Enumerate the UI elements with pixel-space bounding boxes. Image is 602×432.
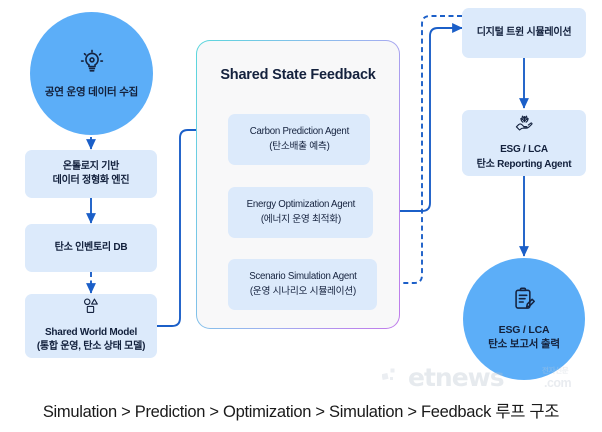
agent-line-1: Energy Optimization Agent: [247, 198, 355, 213]
clipboard-report-icon: [512, 287, 536, 319]
node-label: 공연 운영 데이터 수집: [45, 85, 138, 99]
box-line-2: (통합 운영, 탄소 상태 모델): [37, 340, 145, 355]
box-line-1: 디지털 트윈 시뮬레이션: [477, 26, 572, 41]
agent-energy-optimization[interactable]: Energy Optimization Agent (에너지 운영 최적화): [228, 187, 373, 238]
watermark-mark-icon: [382, 367, 404, 394]
agent-carbon-prediction[interactable]: Carbon Prediction Agent (탄소배출 예측): [228, 114, 370, 165]
shapes-model-icon: [81, 297, 101, 322]
agent-line-1: Scenario Simulation Agent: [249, 270, 356, 285]
box-ontology-engine[interactable]: 온톨로지 기반 데이터 정형화 엔진: [25, 150, 157, 198]
agent-scenario-simulation[interactable]: Scenario Simulation Agent (운영 시나리오 시뮬레이션…: [228, 259, 377, 310]
box-esg-lca-reporting-agent[interactable]: ESG / LCA 탄소 Reporting Agent: [462, 110, 586, 176]
box-carbon-inventory-db[interactable]: 탄소 인벤토리 DB: [25, 224, 157, 272]
box-line-1: ESG / LCA: [500, 143, 548, 158]
box-digital-twin-simulation[interactable]: 디지털 트윈 시뮬레이션: [462, 8, 586, 58]
agent-line-2: (운영 시나리오 시뮬레이션): [250, 285, 356, 300]
figure-caption: Simulation > Prediction > Optimization >…: [0, 398, 602, 422]
node-report-output[interactable]: ESG / LCA 탄소 보고서 출력: [463, 258, 585, 380]
box-line-1: 온톨로지 기반: [63, 160, 119, 175]
shared-state-feedback-panel: Shared State Feedback Carbon Prediction …: [196, 40, 400, 329]
agent-line-2: (탄소배출 예측): [269, 140, 329, 155]
box-line-1: 탄소 인벤토리 DB: [55, 241, 128, 256]
eco-hand-icon: [514, 114, 535, 140]
node-label-1: ESG / LCA: [499, 323, 550, 337]
agent-line-1: Carbon Prediction Agent: [250, 125, 349, 140]
lightbulb-icon: [79, 48, 105, 81]
panel-title: Shared State Feedback: [197, 67, 398, 83]
agent-line-2: (에너지 운영 최적화): [261, 213, 341, 228]
watermark-suffix: .com: [544, 376, 571, 390]
box-line-2: 탄소 Reporting Agent: [477, 158, 572, 173]
box-shared-world-model[interactable]: Shared World Model (통합 운영, 탄소 상태 모델): [25, 294, 157, 358]
diagram-canvas: 공연 운영 데이터 수집 온톨로지 기반 데이터 정형화 엔진 탄소 인벤토리 …: [0, 0, 602, 432]
node-data-collection[interactable]: 공연 운영 데이터 수집: [30, 12, 153, 135]
node-label-2: 탄소 보고서 출력: [488, 337, 560, 351]
box-line-2: 데이터 정형화 엔진: [53, 174, 130, 189]
box-line-1: Shared World Model: [45, 326, 137, 341]
